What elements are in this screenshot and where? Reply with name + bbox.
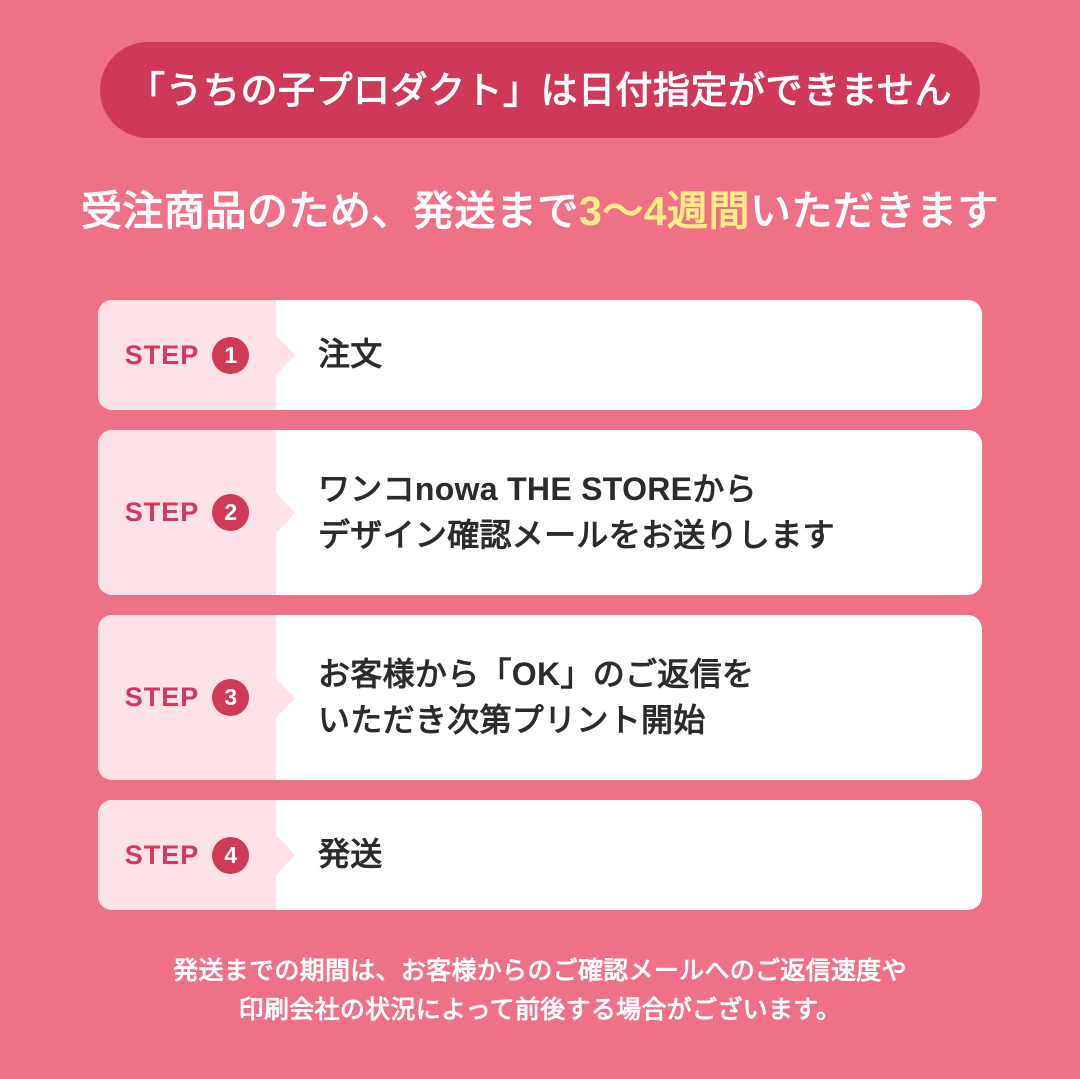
step-text-line: 注文 [318,332,962,377]
step-card-3: STEP 3 お客様から「OK」のご返信を いただき次第プリント開始 [98,615,982,780]
step-word-1: STEP [125,342,200,369]
step-body-3: お客様から「OK」のご返信を いただき次第プリント開始 [276,615,982,780]
step-text-line: 発送 [318,832,962,877]
step-text-line: ワンコnowa THE STOREから [318,467,962,512]
step-word-4: STEP [125,842,200,869]
step-number-badge-4: 4 [212,837,249,874]
step-label-1: STEP 1 [98,300,276,410]
step-card-1: STEP 1 注文 [98,300,982,410]
step-word-3: STEP [125,684,200,711]
step-text-line: いただき次第プリント開始 [318,698,962,743]
promo-page: 「うちの子プロダクト」は日付指定ができません 受注商品のため、発送まで3〜4週間… [0,0,1080,1079]
subtitle-before: 受注商品のため、発送まで [81,188,579,234]
step-label-4: STEP 4 [98,800,276,910]
footnote-line-2: 印刷会社の状況によって前後する場合がございます。 [0,991,1080,1030]
step-body-4: 発送 [276,800,982,910]
step-card-4: STEP 4 発送 [98,800,982,910]
step-text-line: お客様から「OK」のご返信を [318,652,962,697]
step-number-badge-3: 3 [212,679,249,716]
step-body-1: 注文 [276,300,982,410]
subtitle-highlight-duration: 3〜4週間 [579,188,750,234]
subtitle: 受注商品のため、発送まで3〜4週間いただきます [0,186,1080,237]
step-label-2: STEP 2 [98,430,276,595]
step-number-badge-2: 2 [212,494,249,531]
step-number-badge-1: 1 [212,337,249,374]
subtitle-after: いただきます [750,188,999,234]
header-banner: 「うちの子プロダクト」は日付指定ができません [100,42,980,138]
footnote: 発送までの期間は、お客様からのご確認メールへのご返信速度や 印刷会社の状況によっ… [0,952,1080,1030]
step-label-3: STEP 3 [98,615,276,780]
footnote-line-1: 発送までの期間は、お客様からのご確認メールへのご返信速度や [0,952,1080,991]
step-list: STEP 1 注文 STEP 2 ワンコnowa THE STOREから デザイ… [98,300,982,930]
step-card-2: STEP 2 ワンコnowa THE STOREから デザイン確認メールをお送り… [98,430,982,595]
step-text-line: デザイン確認メールをお送りします [318,513,962,558]
banner-title: 「うちの子プロダクト」は日付指定ができません [128,72,952,109]
step-body-2: ワンコnowa THE STOREから デザイン確認メールをお送りします [276,430,982,595]
step-word-2: STEP [125,499,200,526]
